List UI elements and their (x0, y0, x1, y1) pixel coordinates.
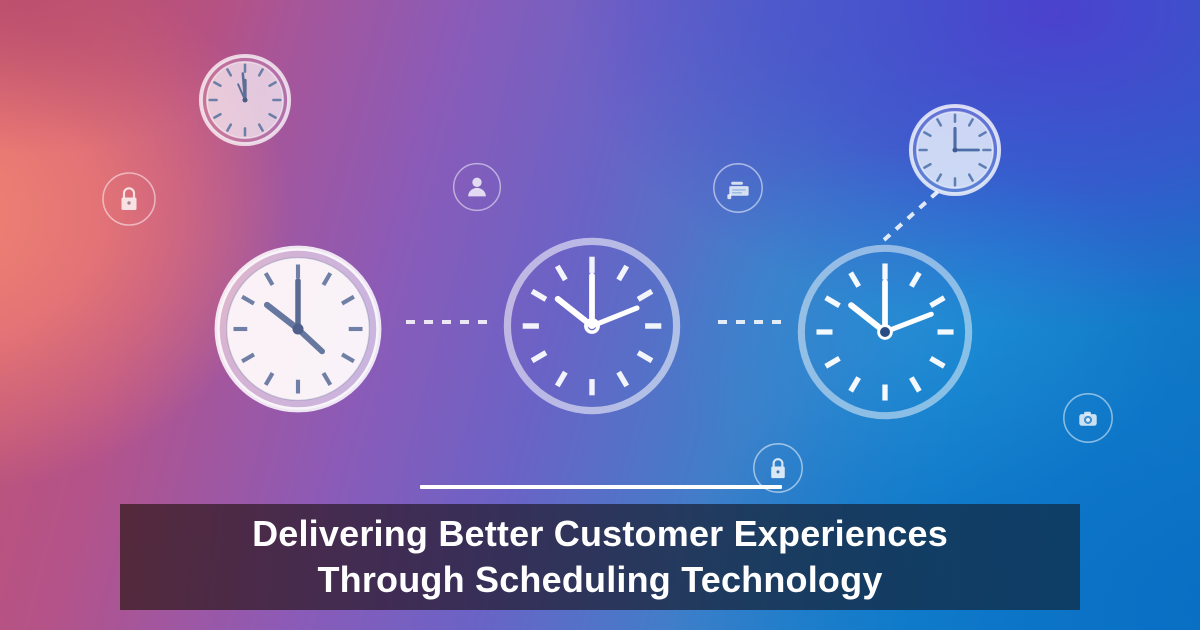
clock-large-left (212, 243, 384, 415)
camera-icon (1059, 389, 1117, 447)
dashed-connector-left (406, 320, 494, 324)
dashed-connector-right (718, 320, 788, 324)
dashed-connector-right-line (718, 320, 788, 324)
user-icon (449, 159, 505, 215)
dashed-connector-left-line (406, 320, 494, 324)
clock-large-center (502, 236, 682, 416)
title-overlay-bar: Delivering Better Customer Experiences T… (120, 504, 1080, 610)
clock-large-right (796, 243, 974, 421)
banner-canvas: Delivering Better Customer Experiences T… (0, 0, 1200, 630)
clock-small-top-left (196, 51, 294, 149)
lock-icon (99, 169, 159, 229)
calendar-icon (709, 159, 767, 217)
page-title: Delivering Better Customer Experiences T… (252, 511, 948, 603)
clock-small-top-right (906, 101, 1004, 199)
title-rule (420, 485, 782, 489)
page-title-line-1: Delivering Better Customer Experiences (252, 511, 948, 557)
page-title-line-2: Through Scheduling Technology (252, 557, 948, 603)
